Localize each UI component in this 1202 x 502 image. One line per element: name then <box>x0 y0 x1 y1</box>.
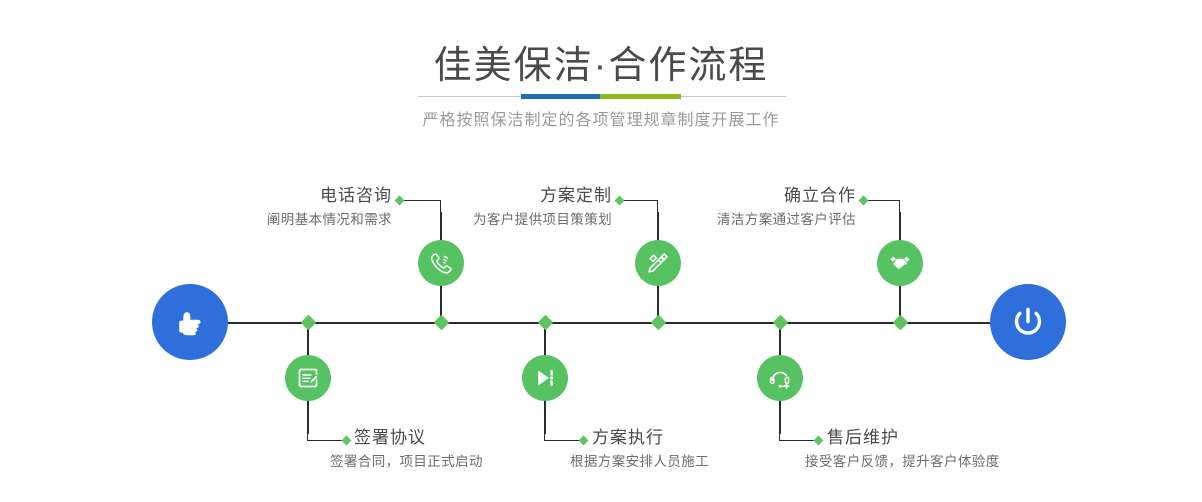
step-3-node[interactable] <box>635 240 681 286</box>
flow-end-node[interactable] <box>990 284 1066 360</box>
step-4-title: 方案执行 <box>592 428 852 448</box>
step-1-desc: 阐明基本情况和需求 <box>140 210 392 230</box>
step-6-title: 售后维护 <box>827 428 1107 448</box>
step-6-desc: 接受客户反馈，提升客户体验度 <box>805 452 1107 472</box>
play-forward-icon <box>532 365 558 391</box>
step-5-desc: 清洁方案通过客户评估 <box>602 210 856 230</box>
step-6-caption: 售后维护 接受客户反馈，提升客户体验度 <box>827 428 1107 472</box>
step-2-title: 签署协议 <box>354 428 614 448</box>
step-6-elbow-horizontal <box>779 440 817 441</box>
step-2-elbow-horizontal <box>307 440 345 441</box>
step-5-elbow-horizontal <box>864 200 900 201</box>
step-5-label-marker <box>859 196 869 206</box>
step-4-node[interactable] <box>522 355 568 401</box>
step-3-caption: 方案定制 为客户提供项目策策划 <box>358 186 612 230</box>
timeline-marker-2 <box>434 315 450 331</box>
step-4-elbow-vertical <box>544 418 545 440</box>
timeline-marker-1 <box>301 315 317 331</box>
process-flow: 电话咨询 阐明基本情况和需求 签署协议 签署合同，项目正式启动 <box>0 0 1202 502</box>
step-1-elbow-horizontal <box>400 200 441 201</box>
timeline-marker-5 <box>773 315 789 331</box>
handshake-icon <box>887 250 913 276</box>
timeline-marker-3 <box>538 315 554 331</box>
step-5-elbow-vertical <box>899 200 900 218</box>
step-5-node[interactable] <box>877 240 923 286</box>
step-3-desc: 为客户提供项目策策划 <box>358 210 612 230</box>
customer-service-icon <box>767 365 793 391</box>
step-6-elbow-vertical <box>779 418 780 440</box>
timeline-marker-4 <box>651 315 667 331</box>
pointing-hand-icon <box>170 302 210 342</box>
step-1-caption: 电话咨询 阐明基本情况和需求 <box>140 186 392 230</box>
phone-call-icon <box>428 250 454 276</box>
step-5-caption: 确立合作 清洁方案通过客户评估 <box>602 186 856 230</box>
step-4-elbow-horizontal <box>544 440 582 441</box>
step-2-node[interactable] <box>285 355 331 401</box>
step-3-elbow-horizontal <box>620 200 658 201</box>
flow-start-node[interactable] <box>152 284 228 360</box>
step-1-node[interactable] <box>418 240 464 286</box>
step-1-elbow-vertical <box>440 200 441 218</box>
cooperation-process-infographic: 佳美保洁·合作流程 严格按照保洁制定的各项管理规章制度开展工作 <box>0 0 1202 502</box>
step-3-elbow-vertical <box>657 200 658 218</box>
step-1-title: 电话咨询 <box>140 186 392 206</box>
document-edit-icon <box>295 365 321 391</box>
timeline-marker-6 <box>893 315 909 331</box>
step-5-title: 确立合作 <box>602 186 856 206</box>
step-2-elbow-vertical <box>307 418 308 440</box>
pencil-ruler-icon <box>645 250 671 276</box>
step-6-node[interactable] <box>757 355 803 401</box>
power-icon <box>1006 300 1050 344</box>
step-2-label-marker <box>342 436 352 446</box>
